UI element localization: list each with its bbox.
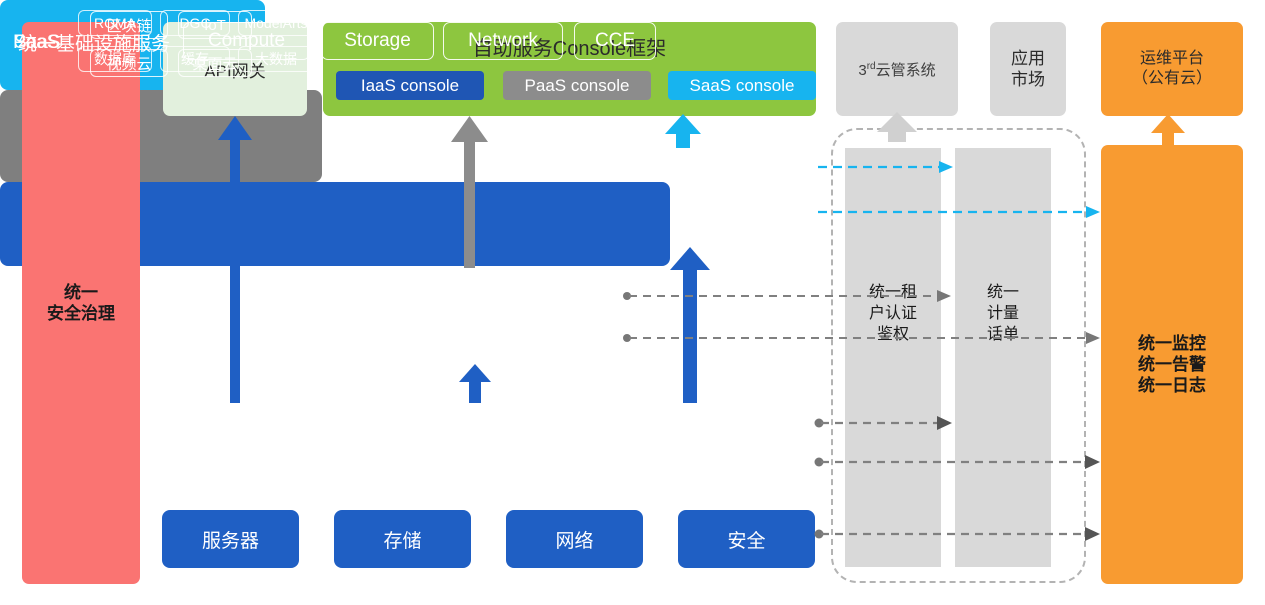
arrow-saas-to-saas-console [665,114,701,148]
iaas-service-network: Network [443,22,563,60]
iaas-layer-label: 统一基础设施服务 [18,29,170,56]
resource-box-network: 网络 [506,510,643,568]
unified-metering-label: 统一 计量 话单 [955,283,1051,345]
app-market-box: 应用 市场 [990,22,1066,116]
arrow-iaas-to-paas [459,364,491,403]
paas-console-chip[interactable]: PaaS console [503,71,651,100]
third-party-cloud-mgmt-box: 3rd云管系统 [836,22,958,116]
security-pillar: 统一 安全治理 [22,22,140,584]
saas-console-chip[interactable]: SaaS console [668,71,816,100]
third-cloud-prefix: 3 [858,62,866,79]
iaas-service-cce: CCE [574,22,656,60]
arrow-opsbody-to-opsplatform [1151,114,1185,145]
ops-monitoring-panel: 统一监控 统一告警 统一日志 [1101,145,1243,584]
third-cloud-superscript: rd [867,61,876,72]
resource-box-storage: 存储 [334,510,471,568]
third-cloud-rest: 云管系统 [876,62,936,79]
unified-tenant-auth-label: 统一租 户认证 鉴权 [845,283,941,345]
unified-tenant-auth-column [845,148,941,567]
resource-box-security: 安全 [678,510,815,568]
architecture-diagram: 统一 安全治理 API网关 自助服务Console框架 IaaS console… [0,0,1265,605]
unified-metering-column [955,148,1051,567]
iaas-service-compute: Compute [183,22,310,60]
arrow-iaas-to-saas [670,247,710,403]
resource-box-server: 服务器 [162,510,299,568]
ops-platform-box: 运维平台 （公有云） [1101,22,1243,116]
iaas-service-storage: Storage [321,22,434,60]
iaas-console-chip[interactable]: IaaS console [336,71,484,100]
